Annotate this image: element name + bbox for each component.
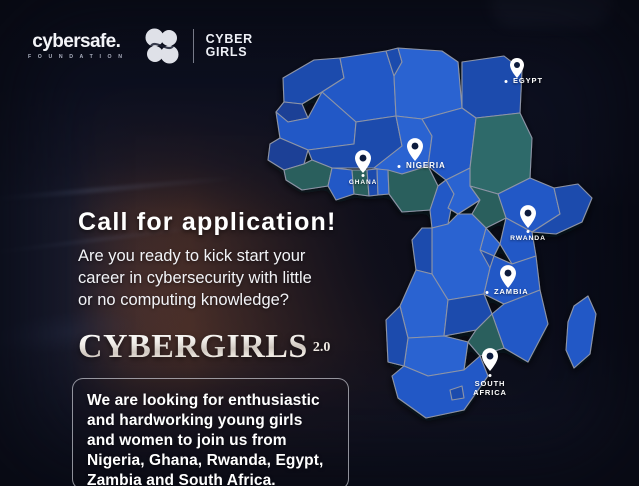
map-pin-label-africa: AFRICA — [473, 388, 507, 397]
map-pin-label-rwanda: RWANDA — [510, 235, 546, 242]
map-pin-egypt[interactable]: EGYPT — [508, 58, 526, 94]
location-pin-icon — [482, 348, 498, 376]
subheading-line-1: Are you ready to kick start your — [78, 246, 312, 268]
subheading-line-2: career in cybersecurity with little — [78, 268, 312, 290]
callout-line-5: Zambia and South Africa. — [87, 471, 348, 486]
brand-header: cybersafe. F O U N D A T I O N CYBER GIR… — [28, 26, 253, 66]
location-pin-icon — [520, 205, 536, 233]
subheading-line-3: or no computing knowledge? — [78, 290, 312, 312]
cybergirls-wordmark: CYBER GIRLS — [206, 33, 253, 60]
callout-line-2: and hardworking young girls — [87, 411, 348, 431]
map-pin-label-ghana: GHANA — [349, 179, 377, 186]
callout-box: We are looking for enthusiastic and hard… — [72, 378, 349, 486]
map-pin-label-egypt: EGYPT — [513, 76, 543, 85]
map-pin-label-nigeria: NIGERIA — [406, 161, 446, 170]
map-pin-dot — [398, 165, 401, 168]
wordmark-version: 2.0 — [313, 340, 331, 356]
cybergirls-line-1: CYBER — [206, 33, 253, 47]
map-pin-rwanda[interactable]: RWANDA — [519, 205, 537, 247]
map-pin-label-south: SOUTH — [475, 379, 506, 388]
subheading: Are you ready to kick start your career … — [78, 246, 312, 311]
map-pin-dot — [362, 174, 365, 177]
map-pin-ghana[interactable]: GHANA — [354, 150, 372, 190]
cybergirls-line-2: GIRLS — [206, 46, 253, 60]
map-pin-dot — [489, 374, 492, 377]
map-pin-dot — [486, 291, 489, 294]
map-pin-zambia[interactable]: ZAMBIA — [499, 265, 517, 305]
cybergirls-display-wordmark: CYBERGIRLS 2.0 — [78, 330, 330, 364]
page-title: Call for application! — [78, 208, 337, 237]
map-pin-south-africa[interactable]: SOUTH AFRICA — [481, 348, 499, 398]
cybersafe-foundation-label: F O U N D A T I O N — [28, 54, 125, 60]
wordmark-text: CYBERGIRLS — [78, 330, 308, 364]
cybersafe-logo: cybersafe. F O U N D A T I O N — [28, 32, 125, 60]
cybersafe-name: cybersafe. — [32, 32, 120, 51]
clover-logo-icon — [141, 26, 183, 66]
callout-line-3: and women to join us from — [87, 431, 348, 451]
map-pin-dot — [505, 80, 508, 83]
callout-line-1: We are looking for enthusiastic — [87, 391, 348, 411]
callout-line-4: Nigeria, Ghana, Rwanda, Egypt, — [87, 451, 348, 471]
header-divider — [193, 29, 194, 63]
map-pin-nigeria[interactable]: NIGERIA — [406, 138, 424, 178]
poster-canvas: cybersafe. F O U N D A T I O N CYBER GIR… — [0, 0, 639, 486]
map-pin-label-zambia: ZAMBIA — [494, 287, 529, 296]
map-pin-dot — [527, 230, 530, 233]
